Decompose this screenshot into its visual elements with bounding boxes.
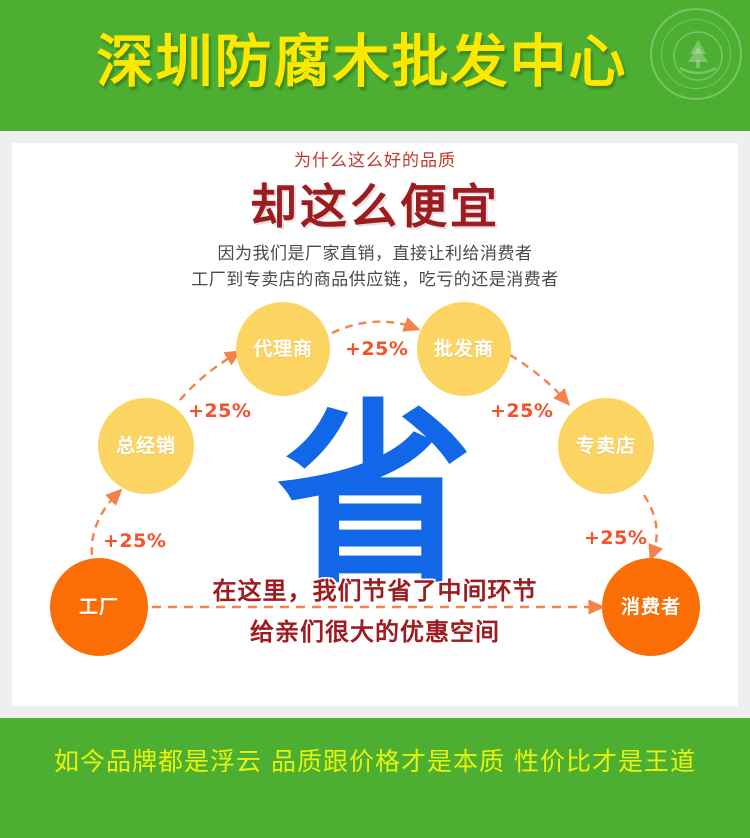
markup-factory-to-distributor: +25% bbox=[103, 531, 166, 551]
arrow-wholesaler-to-store bbox=[510, 355, 564, 399]
node-store[interactable]: 专卖店 bbox=[558, 398, 654, 494]
node-store-label: 专卖店 bbox=[576, 437, 636, 456]
node-distributor[interactable]: 总经销 bbox=[98, 398, 194, 494]
node-wholesaler[interactable]: 批发商 bbox=[417, 302, 511, 396]
markup-store-to-consumer: +25% bbox=[584, 528, 647, 548]
company-seal-logo bbox=[650, 8, 742, 100]
markup-distributor-to-agent: +25% bbox=[188, 401, 251, 421]
header-banner: 深圳防腐木批发中心 bbox=[0, 0, 750, 131]
node-wholesaler-label: 批发商 bbox=[434, 340, 494, 359]
arrow-distributor-to-agent bbox=[180, 355, 234, 400]
seal-tree-icon bbox=[652, 10, 744, 102]
promo-line-1: 在这里，我们节省了中间环节 bbox=[12, 575, 738, 607]
node-agent-label: 代理商 bbox=[253, 340, 313, 359]
page-title: 深圳防腐木批发中心 bbox=[0, 26, 750, 98]
node-distributor-label: 总经销 bbox=[116, 437, 176, 456]
markup-wholesaler-to-store: +25% bbox=[490, 401, 553, 421]
arrow-agent-to-wholesaler bbox=[332, 322, 412, 333]
markup-agent-to-wholesaler: +25% bbox=[345, 339, 408, 359]
supply-chain-diagram: 省 工厂 总经销 代理商 批发商 专卖店 消费者 +25% +25% +25% … bbox=[12, 143, 738, 706]
node-agent[interactable]: 代理商 bbox=[236, 302, 330, 396]
footer-banner: 如今品牌都是浮云 品质跟价格才是本质 性价比才是王道 bbox=[0, 718, 750, 838]
footer-slogan: 如今品牌都是浮云 品质跟价格才是本质 性价比才是王道 bbox=[0, 744, 750, 780]
promo-line-2: 给亲们很大的优惠空间 bbox=[12, 616, 738, 648]
